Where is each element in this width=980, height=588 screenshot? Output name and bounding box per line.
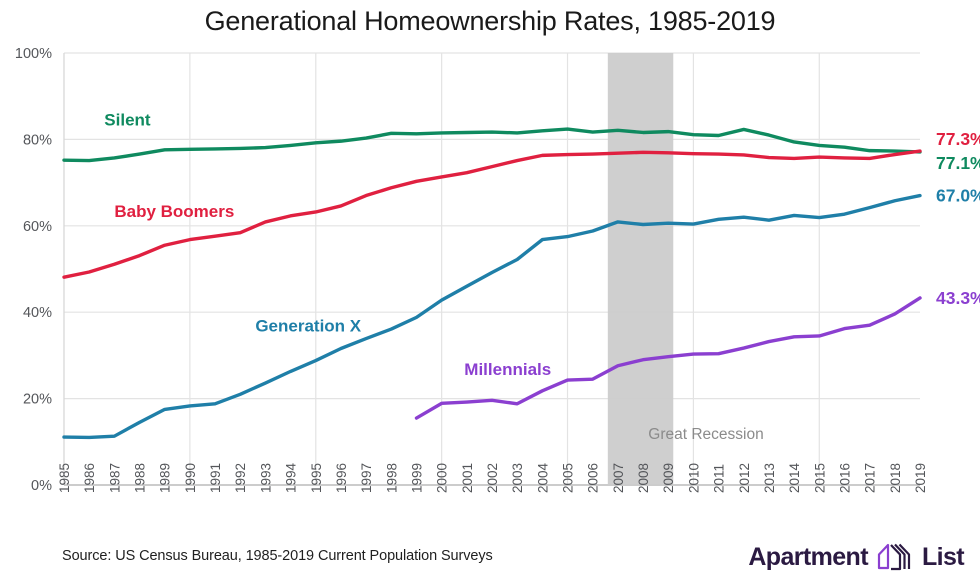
x-axis-tick-label: 2004 [535,462,550,493]
y-axis-tick-label: 0% [31,478,52,494]
x-axis-tick-label: 2009 [661,463,676,493]
x-axis-tick-label: 2017 [863,463,878,493]
end-value-label-generation-x: 67.0% [936,186,980,206]
x-axis-tick-label: 2005 [561,463,576,493]
brand-name-first: Apartment [748,545,868,570]
brand-name-second: List [922,545,964,570]
x-axis-tick-label: 1997 [359,463,374,493]
x-axis-tick-label: 2015 [812,463,827,493]
x-axis-tick-label: 1990 [183,463,198,493]
x-axis-tick-label: 1996 [334,463,349,493]
x-axis-tick-label: 2010 [686,463,701,493]
y-axis-tick-label: 20% [23,392,52,408]
x-axis-tick-label: 2019 [913,463,928,493]
x-axis-tick-label: 1991 [208,463,223,493]
great-recession-band [608,53,673,485]
annotation-labels-group: Great Recession [648,426,763,443]
series-label-generation-x: Generation X [255,317,361,336]
x-axis-tick-label: 2002 [485,463,500,493]
y-axis-tick-label: 60% [23,219,52,235]
x-axis-tick-label: 1994 [284,462,299,493]
x-axis-tick-label: 1993 [258,463,273,493]
x-axis-tick-label: 1985 [57,463,72,493]
x-axis-tick-label: 1992 [233,463,248,493]
chart-plot-area: 0%20%40%60%80%100% 198519861987198819891… [0,0,980,540]
x-axis-tick-label: 2006 [586,463,601,493]
x-axis-tick-label: 2001 [460,463,475,493]
recession-annotation-label: Great Recession [648,426,763,443]
source-note: Source: US Census Bureau, 1985-2019 Curr… [62,548,493,564]
series-label-millennials: Millennials [464,360,551,379]
x-axis-tick-label: 2018 [888,463,903,493]
x-axis-tick-label: 2013 [762,463,777,493]
gridlines [64,53,920,485]
end-value-label-millennials: 43.3% [936,288,980,308]
x-axis-tick-label: 1999 [409,463,424,493]
house-logo-icon [875,541,915,573]
homeownership-chart: Generational Homeownership Rates, 1985-2… [0,0,980,588]
x-axis-ticks: 1985198619871988198919901991199219931994… [57,462,928,493]
x-axis-tick-label: 2012 [737,463,752,493]
y-axis-tick-label: 80% [23,132,52,148]
brand-logo: Apartment List [748,541,964,573]
series-line-silent [64,129,920,161]
x-axis-tick-label: 2008 [636,463,651,493]
x-axis-tick-label: 2007 [611,463,626,493]
x-axis-tick-label: 1989 [158,463,173,493]
x-axis-tick-label: 1988 [133,463,148,493]
y-axis-ticks: 0%20%40%60%80%100% [15,46,52,494]
x-axis-tick-label: 1986 [82,463,97,493]
x-axis-tick-label: 1995 [309,463,324,493]
series-label-baby-boomers: Baby Boomers [114,202,234,221]
series-label-silent: Silent [104,111,151,130]
y-axis-tick-label: 100% [15,46,52,62]
x-axis-tick-label: 2003 [510,463,525,493]
x-axis-tick-label: 2000 [435,463,450,493]
x-axis-tick-label: 1987 [107,463,122,493]
end-value-label-baby-boomers: 77.3% [936,129,980,149]
x-axis-tick-label: 1998 [384,463,399,493]
recession-band-group [608,53,673,485]
x-axis-tick-label: 2016 [837,463,852,493]
x-axis-tick-label: 2014 [787,462,802,493]
series-lines-group [64,129,920,437]
y-axis-tick-label: 40% [23,305,52,321]
end-value-labels-group: 77.1%77.3%67.0%43.3% [936,129,980,308]
end-value-label-silent: 77.1% [936,153,980,173]
x-axis-tick-label: 2011 [712,464,727,493]
